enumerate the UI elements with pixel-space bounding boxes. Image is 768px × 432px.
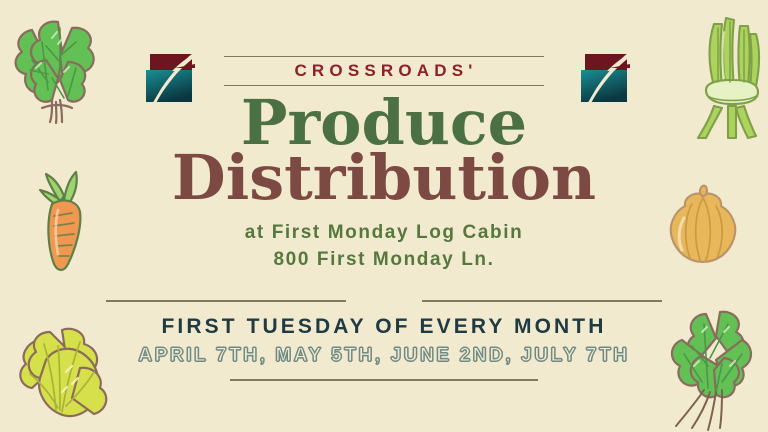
eyebrow-block: CROSSROADS': [224, 56, 544, 86]
schedule-frequency: FIRST TUESDAY OF EVERY MONTH: [161, 316, 606, 337]
band-rule-pair: [106, 300, 662, 302]
schedule-dates: APRIL 7TH, MAY 5TH, JUNE 2ND, JULY 7TH: [138, 346, 629, 365]
band-rule-left: [106, 300, 346, 302]
organization-name: CROSSROADS': [290, 57, 477, 85]
page-title: Produce Distribution: [172, 94, 596, 206]
venue-street: 800 First Monday Ln.: [245, 247, 524, 274]
band-rule-bottom: [230, 379, 538, 381]
title-line-distribution: Distribution: [172, 149, 596, 206]
schedule-band: FIRST TUESDAY OF EVERY MONTH APRIL 7TH, …: [0, 300, 768, 381]
venue-address: at First Monday Log Cabin 800 First Mond…: [245, 220, 524, 274]
produce-distribution-flyer: CROSSROADS' Produce Distribution at Firs…: [0, 0, 768, 432]
venue-name: at First Monday Log Cabin: [245, 220, 524, 247]
band-rule-right: [422, 300, 662, 302]
